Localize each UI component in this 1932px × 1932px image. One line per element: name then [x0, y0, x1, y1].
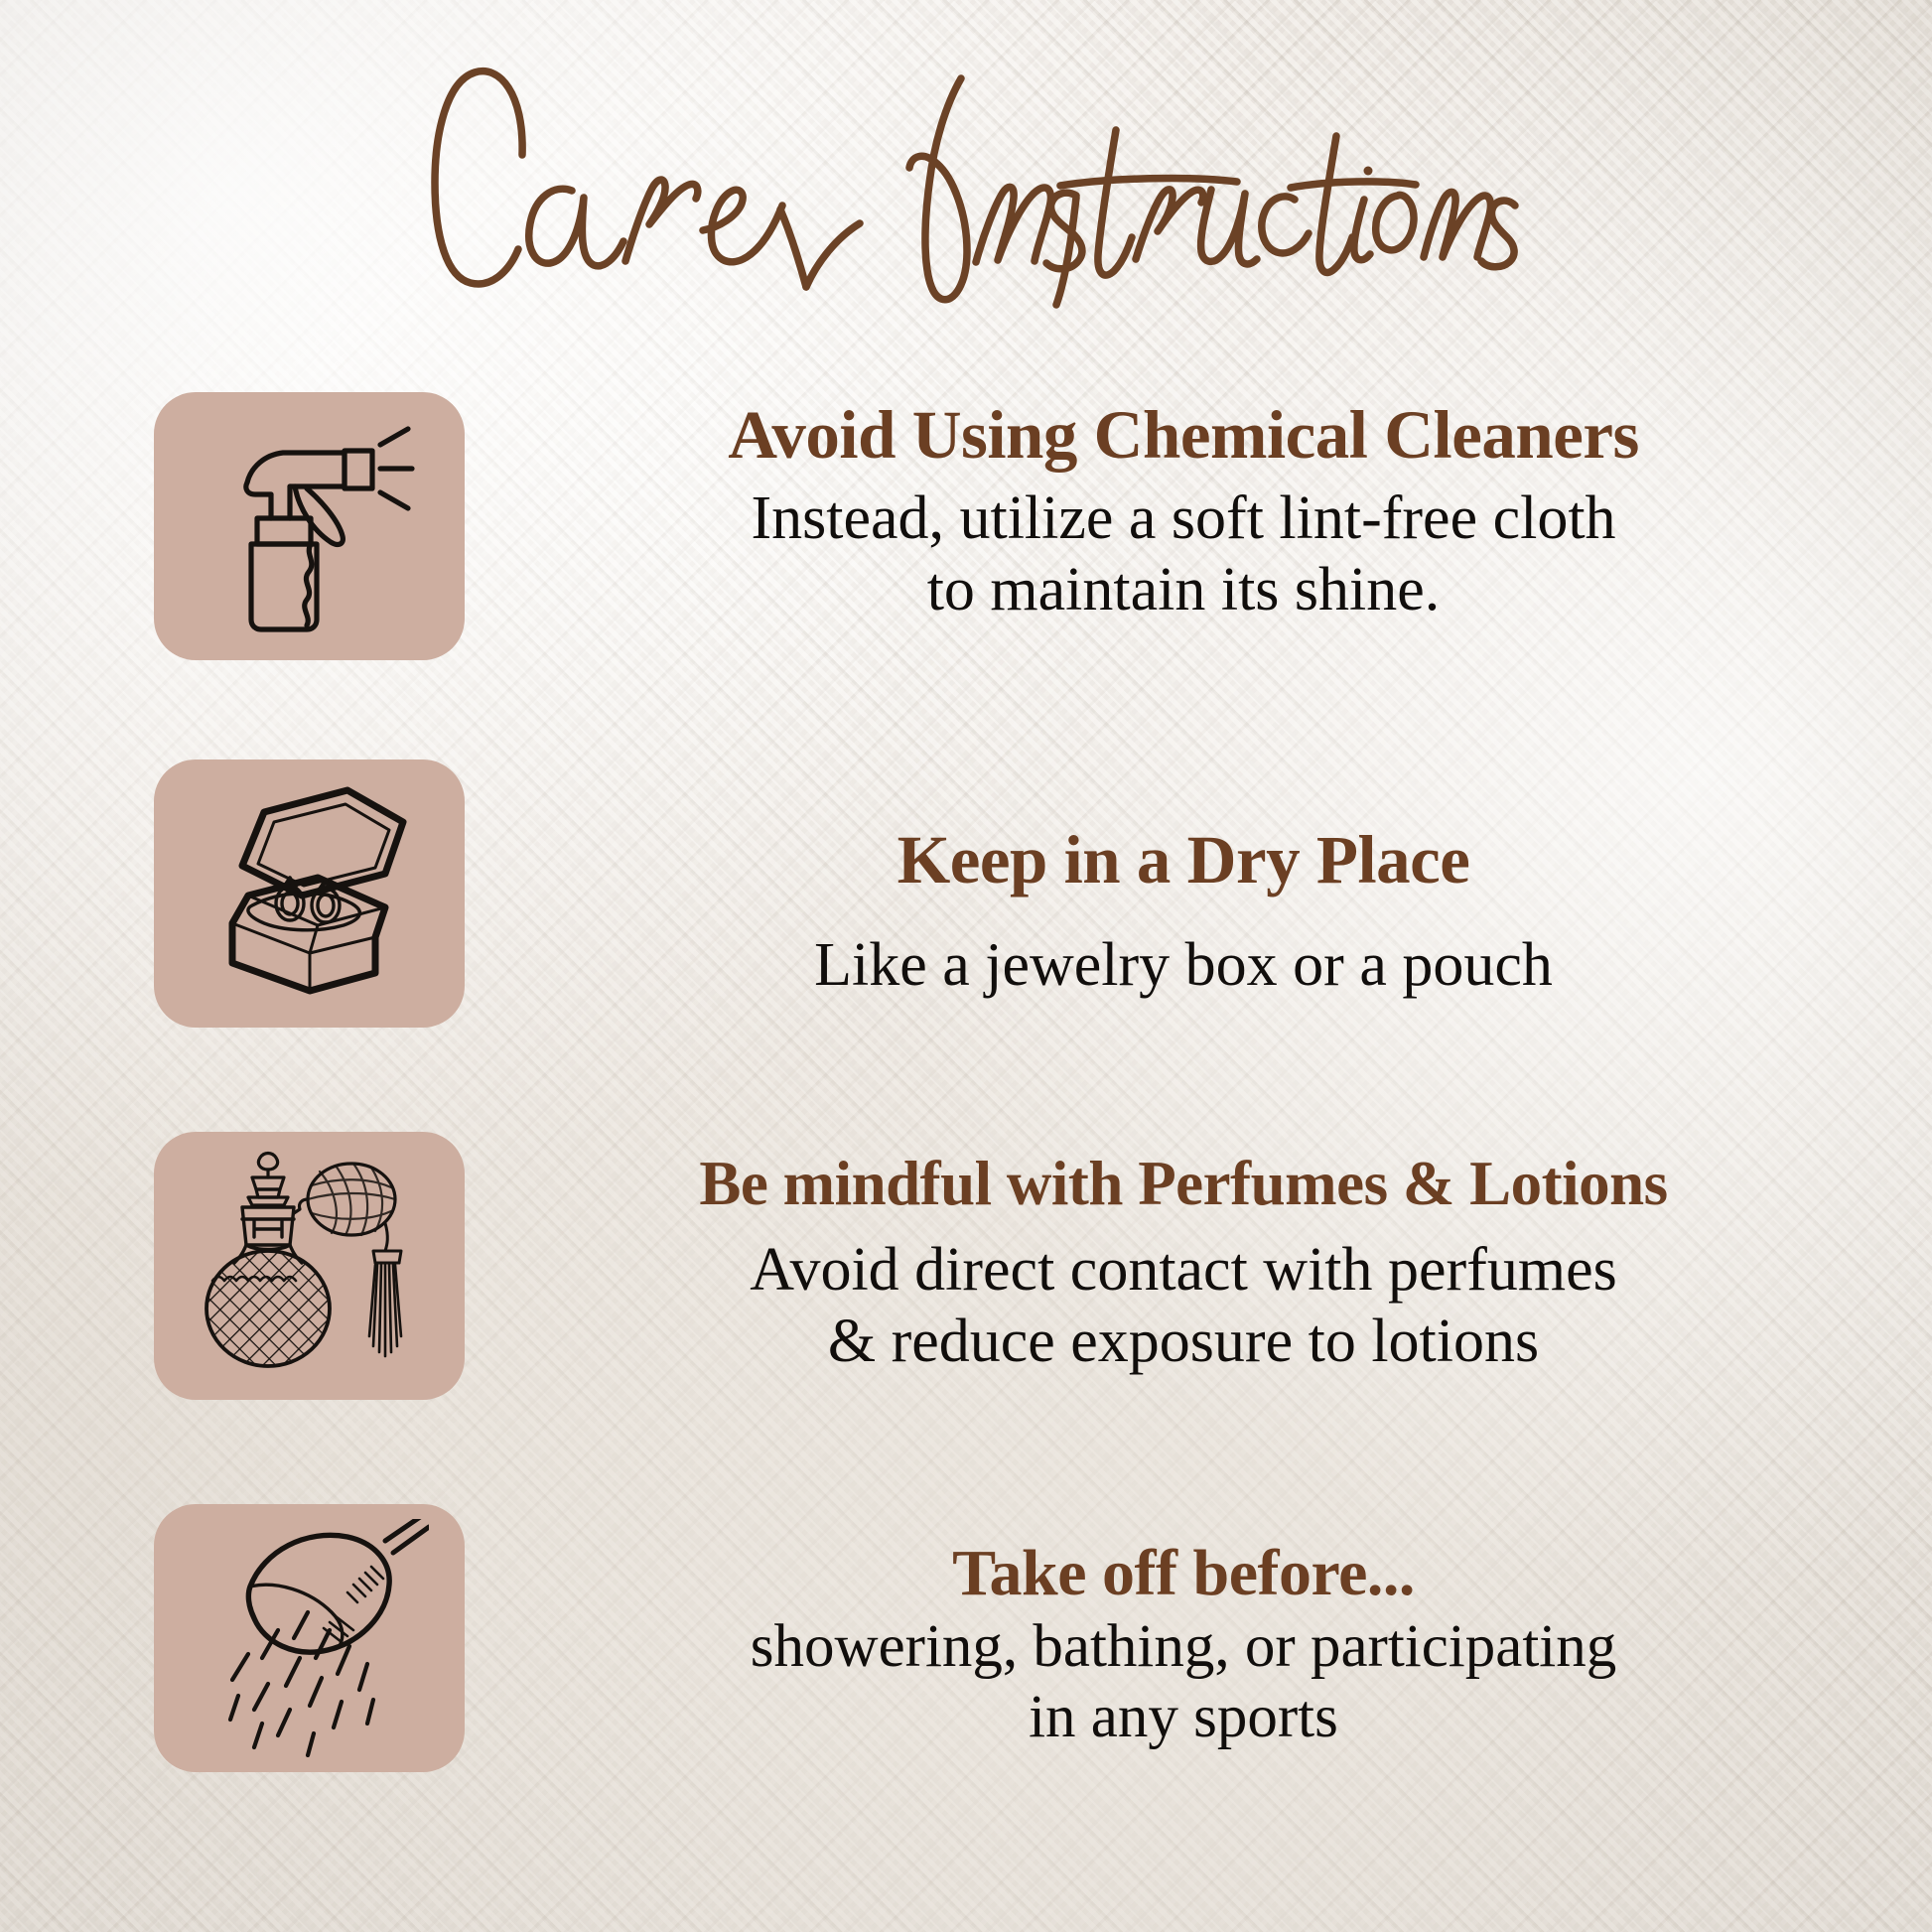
- instruction-heading: Avoid Using Chemical Cleaners: [494, 400, 1872, 470]
- instruction-text-4: Take off before... showering, bathing, o…: [465, 1504, 1932, 1753]
- spray-bottle-icon: [196, 415, 424, 638]
- care-instructions-poster: Avoid Using Chemical Cleaners Instead, u…: [0, 0, 1932, 1932]
- instruction-body: showering, bathing, or participating in …: [494, 1612, 1872, 1753]
- list-item: Be mindful with Perfumes & Lotions Avoid…: [0, 1132, 1932, 1504]
- instruction-heading: Take off before...: [494, 1540, 1872, 1606]
- instruction-body-line: Instead, utilize a soft lint-free cloth: [494, 483, 1872, 555]
- instruction-body: Instead, utilize a soft lint-free cloth …: [494, 483, 1872, 626]
- icon-tile-dry-place: [154, 759, 465, 1028]
- page-title: [0, 34, 1932, 322]
- instruction-text-1: Avoid Using Chemical Cleaners Instead, u…: [465, 392, 1932, 626]
- icon-tile-perfumes-lotions: [154, 1132, 465, 1400]
- instruction-heading: Be mindful with Perfumes & Lotions: [494, 1152, 1872, 1215]
- jewelry-box-icon: [191, 778, 429, 1009]
- instruction-text-2: Keep in a Dry Place Like a jewelry box o…: [465, 759, 1932, 1002]
- perfume-bottle-icon: [191, 1142, 429, 1390]
- instruction-body-line: to maintain its shine.: [494, 555, 1872, 626]
- instruction-body: Avoid direct contact with perfumes & red…: [494, 1235, 1872, 1378]
- list-item: Keep in a Dry Place Like a jewelry box o…: [0, 759, 1932, 1132]
- icon-tile-take-off-before: [154, 1504, 465, 1772]
- page-title-script: [405, 39, 1527, 317]
- instruction-heading: Keep in a Dry Place: [494, 825, 1872, 895]
- instruction-body-line: Avoid direct contact with perfumes: [494, 1235, 1872, 1307]
- list-item: Take off before... showering, bathing, o…: [0, 1504, 1932, 1891]
- list-item: Avoid Using Chemical Cleaners Instead, u…: [0, 392, 1932, 759]
- instruction-body-line: in any sports: [494, 1683, 1872, 1753]
- instruction-list: Avoid Using Chemical Cleaners Instead, u…: [0, 392, 1932, 1891]
- icon-tile-chemical-cleaners: [154, 392, 465, 660]
- instruction-body-line: & reduce exposure to lotions: [494, 1307, 1872, 1378]
- instruction-body-line: showering, bathing, or participating: [494, 1612, 1872, 1683]
- instruction-text-3: Be mindful with Perfumes & Lotions Avoid…: [465, 1132, 1932, 1378]
- instruction-body: Like a jewelry box or a pouch: [494, 930, 1872, 1002]
- shower-head-icon: [191, 1519, 429, 1757]
- instruction-body-line: Like a jewelry box or a pouch: [494, 930, 1872, 1002]
